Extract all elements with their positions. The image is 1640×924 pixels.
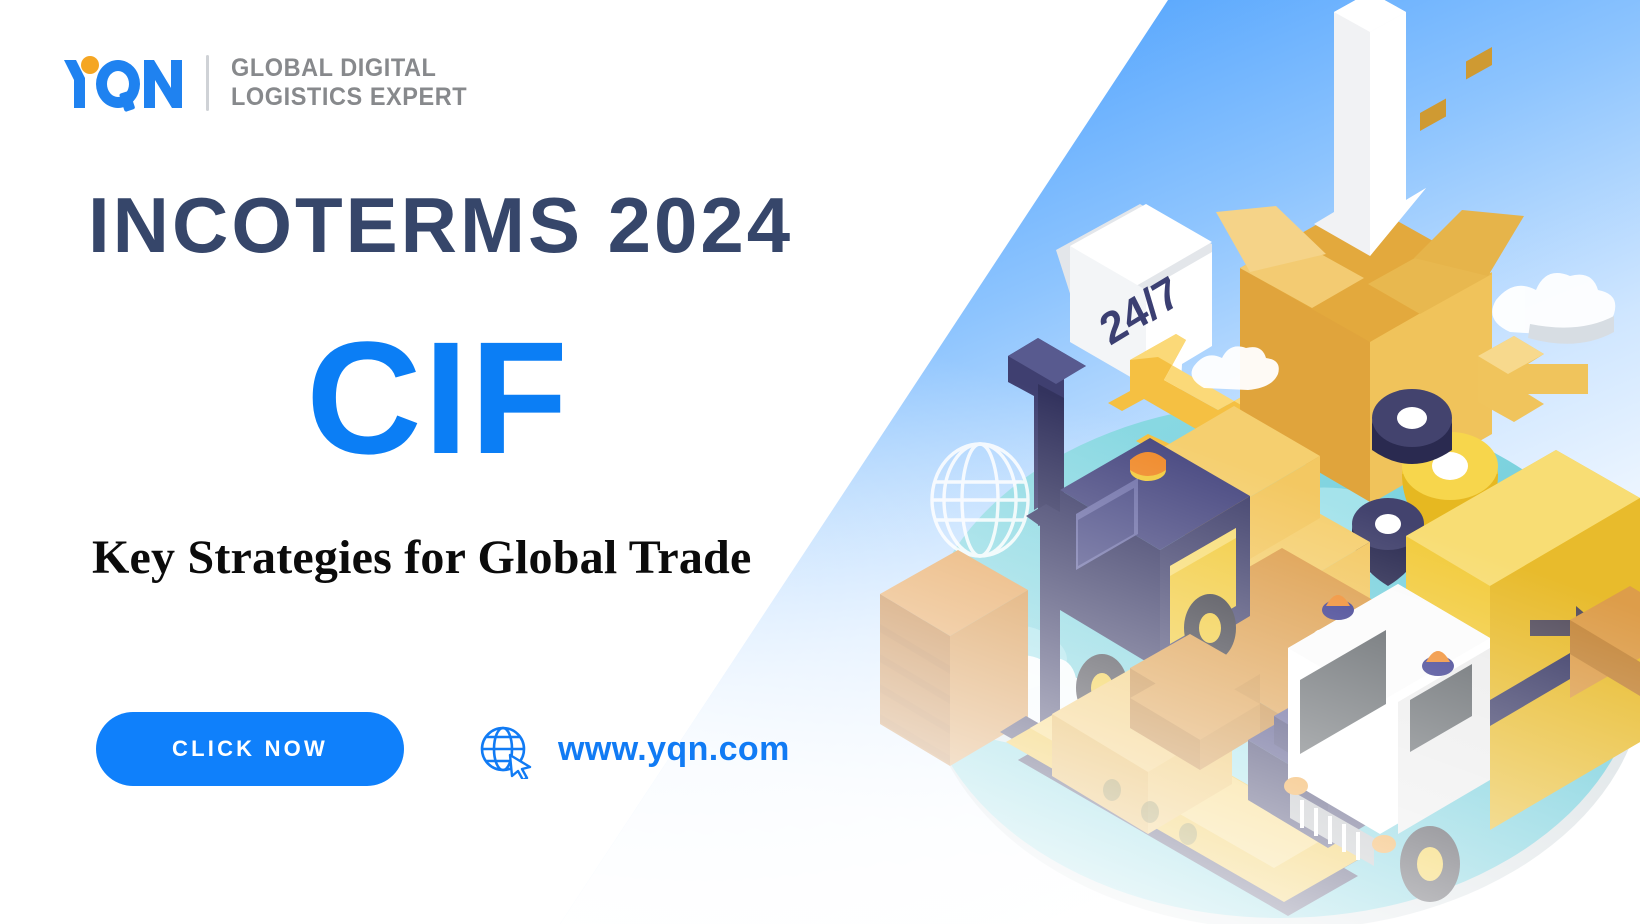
logistics-illustration: 24/7: [830, 0, 1640, 924]
page-title: INCOTERMS 2024: [88, 186, 888, 264]
logo-tagline-line2: LOGISTICS EXPERT: [231, 83, 467, 112]
tape-roll-navy: [1372, 389, 1452, 464]
logo-divider: [206, 55, 209, 111]
click-now-button[interactable]: CLICK NOW: [96, 712, 404, 786]
down-arrow-into-box: [1314, 0, 1426, 256]
logo-tagline: GLOBAL DIGITAL LOGISTICS EXPERT: [231, 54, 482, 112]
website-url-text[interactable]: www.yqn.com: [558, 730, 790, 769]
promo-banner: 24/7: [0, 0, 1640, 924]
logo-tagline-line1: GLOBAL DIGITAL: [231, 54, 467, 83]
incoterm-code: CIF: [88, 318, 788, 478]
page-subtitle: Key Strategies for Global Trade: [92, 534, 751, 582]
globe-cursor-icon: [476, 719, 536, 779]
arrow-yellow-right: [1478, 336, 1588, 422]
yqn-logo-icon: [60, 52, 190, 114]
brand-logo[interactable]: GLOBAL DIGITAL LOGISTICS EXPERT: [60, 48, 482, 118]
website-link[interactable]: www.yqn.com: [476, 714, 790, 784]
